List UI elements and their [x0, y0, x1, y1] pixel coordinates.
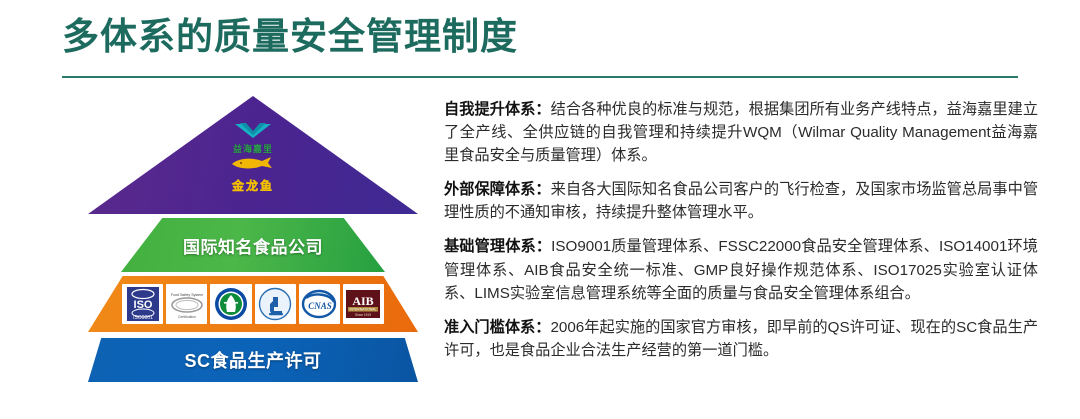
iso-icon: ISO ISO9001: [126, 286, 160, 322]
haccp-icon: [214, 287, 248, 321]
arowana-logo: 金龙鱼: [88, 156, 418, 194]
pyramid-tier-international-brands: 国际知名食品公司: [88, 218, 418, 272]
cnas-badge[interactable]: CNAS: [299, 284, 340, 324]
paragraph-external-assurance: 外部保障体系：来自各大国际知名食品公司客户的飞行检查，及国家市场监管总局事中管理…: [444, 178, 1038, 224]
body-copy: 自我提升体系：结合各种优良的标准与规范，根据集团所有业务产线特点，益海嘉里建立了…: [444, 98, 1038, 362]
haccp-badge[interactable]: [210, 284, 251, 324]
microscope-icon: [258, 287, 292, 321]
svg-text:CNAS: CNAS: [308, 301, 332, 311]
cnas-icon: CNAS: [300, 288, 338, 320]
paragraph-entry-threshold: 准入门槛体系：2006年起实施的国家官方审核，即早前的QS许可证、现在的SC食品…: [444, 316, 1038, 362]
svg-text:ISO9001: ISO9001: [133, 315, 153, 321]
tier-label-international-brands: 国际知名食品公司: [183, 233, 323, 258]
paragraph-foundation-management: 基础管理体系：ISO9001质量管理体系、FSSC22000食品安全管理体系、I…: [444, 235, 1038, 304]
paragraph-lead: 基础管理体系：: [444, 238, 551, 255]
svg-text:Certification: Certification: [178, 315, 196, 319]
svg-text:AIB: AIB: [353, 294, 374, 308]
arowana-text: 金龙鱼: [88, 177, 418, 194]
paragraph-self-improvement: 自我提升体系：结合各种优良的标准与规范，根据集团所有业务产线特点，益海嘉里建立了…: [444, 98, 1038, 167]
aib-badge[interactable]: AIB INTERNATIONAL Since 1919: [343, 284, 384, 324]
green-tier-shape: 国际知名食品公司: [88, 218, 418, 272]
svg-text:INTERNATIONAL: INTERNATIONAL: [350, 308, 377, 312]
lab-microscope-badge[interactable]: [255, 284, 296, 324]
paragraph-lead: 外部保障体系：: [444, 181, 551, 198]
pyramid-tier-certifications: ISO ISO9001 Food Safety System Certifica…: [88, 276, 418, 332]
pyramid-diagram: 益海嘉里 金龙鱼 国际知名食品公司 ISO ISO9001: [88, 92, 418, 404]
paragraph-lead: 准入门槛体系：: [444, 319, 550, 336]
apex-shape: [88, 96, 418, 214]
svg-text:Since 1919: Since 1919: [355, 313, 371, 317]
page-header: 多体系的质量安全管理制度: [62, 14, 1022, 59]
fish-icon: [230, 156, 276, 171]
pyramid-tier-sc-license: SC食品生产许可: [88, 338, 418, 382]
yihai-kerry-text: 益海嘉里: [88, 142, 418, 155]
paragraph-lead: 自我提升体系：: [444, 101, 551, 118]
certification-badge-row: ISO ISO9001 Food Safety System Certifica…: [122, 284, 384, 324]
wings-icon: [232, 122, 274, 139]
fssc-icon: Food Safety System Certification: [167, 287, 207, 321]
blue-tier-shape: SC食品生产许可: [88, 338, 418, 382]
title-divider: [62, 76, 1018, 78]
tier-label-sc-license: SC食品生产许可: [184, 347, 321, 373]
page-title: 多体系的质量安全管理制度: [62, 14, 1022, 59]
iso-badge[interactable]: ISO ISO9001: [122, 284, 163, 324]
aib-icon: AIB INTERNATIONAL Since 1919: [344, 287, 382, 321]
yihai-kerry-logo: 益海嘉里: [88, 122, 418, 155]
fssc-badge[interactable]: Food Safety System Certification: [166, 284, 207, 324]
svg-text:Food Safety System: Food Safety System: [171, 293, 203, 297]
pyramid-tier-apex: 益海嘉里 金龙鱼: [88, 96, 418, 214]
